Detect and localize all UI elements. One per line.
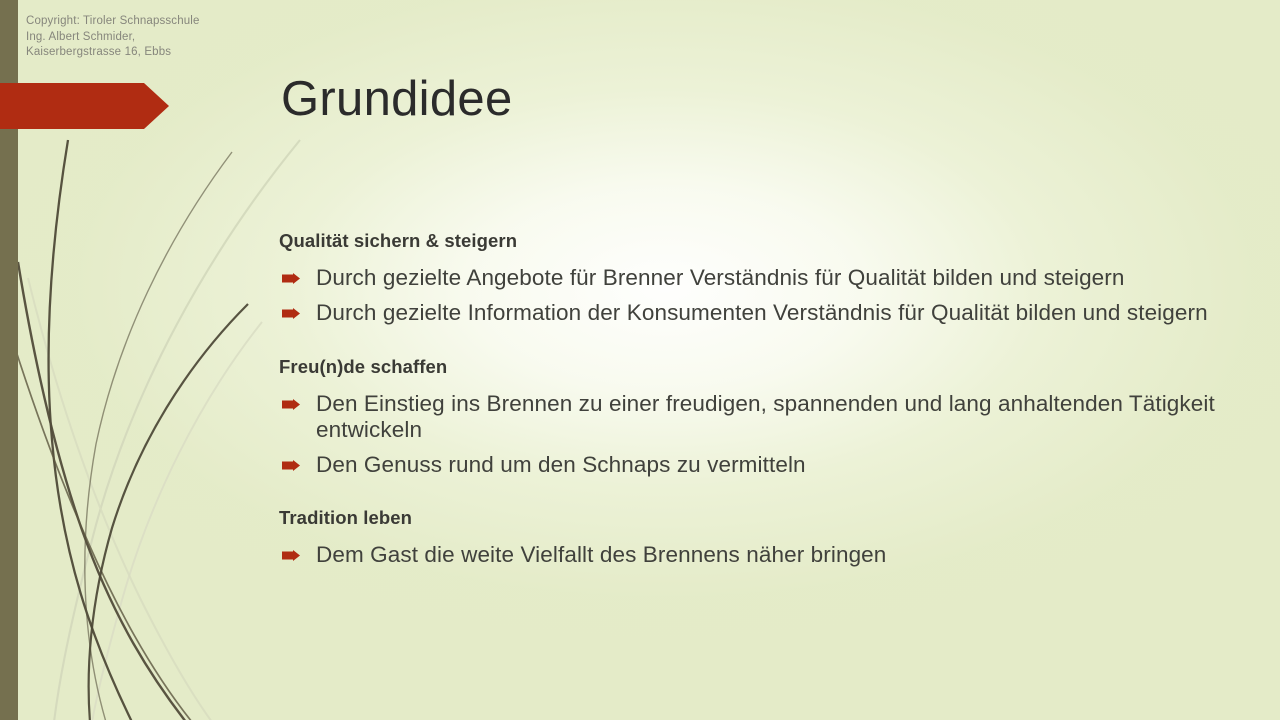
content-group-1: Qualität sichern & steigern Durch geziel… bbox=[279, 226, 1234, 326]
list-item-text: Durch gezielte Angebote für Brenner Vers… bbox=[316, 265, 1125, 290]
bullet-list: Dem Gast die weite Vielfallt des Brennen… bbox=[279, 542, 1234, 568]
group-heading: Tradition leben bbox=[279, 503, 1234, 533]
group-spacer bbox=[279, 326, 1234, 352]
red-flag-arrow-bullet-icon bbox=[282, 308, 300, 319]
slide-body: Qualität sichern & steigern Durch geziel… bbox=[279, 226, 1234, 568]
group-heading: Freu(n)de schaffen bbox=[279, 352, 1234, 382]
list-item: Dem Gast die weite Vielfallt des Brennen… bbox=[279, 542, 1234, 568]
list-item: Den Einstieg ins Brennen zu einer freudi… bbox=[279, 391, 1234, 443]
list-item: Den Genuss rund um den Schnaps zu vermit… bbox=[279, 452, 1234, 478]
red-pentagon-arrow-banner bbox=[0, 83, 169, 129]
content-group-2: Freu(n)de schaffen Den Einstieg ins Bren… bbox=[279, 352, 1234, 478]
red-flag-arrow-bullet-icon bbox=[282, 399, 300, 410]
page-title: Grundidee bbox=[281, 67, 513, 131]
copyright-notice: Copyright: Tiroler Schnapsschule Ing. Al… bbox=[26, 14, 266, 61]
list-item: Durch gezielte Angebote für Brenner Vers… bbox=[279, 265, 1234, 291]
list-item: Durch gezielte Information der Konsument… bbox=[279, 300, 1234, 326]
list-item-text: Den Genuss rund um den Schnaps zu vermit… bbox=[316, 452, 806, 477]
bullet-list: Den Einstieg ins Brennen zu einer freudi… bbox=[279, 391, 1234, 478]
group-spacer bbox=[279, 478, 1234, 503]
list-item-text: Dem Gast die weite Vielfallt des Brennen… bbox=[316, 542, 886, 567]
bullet-list: Durch gezielte Angebote für Brenner Vers… bbox=[279, 265, 1234, 326]
red-flag-arrow-bullet-icon bbox=[282, 460, 300, 471]
content-group-3: Tradition leben Dem Gast die weite Vielf… bbox=[279, 503, 1234, 568]
list-item-text: Durch gezielte Information der Konsument… bbox=[316, 300, 1208, 325]
presentation-slide: Copyright: Tiroler Schnapsschule Ing. Al… bbox=[0, 0, 1280, 720]
red-flag-arrow-bullet-icon bbox=[282, 273, 300, 284]
red-flag-arrow-bullet-icon bbox=[282, 550, 300, 561]
list-item-text: Den Einstieg ins Brennen zu einer freudi… bbox=[316, 391, 1215, 442]
group-heading: Qualität sichern & steigern bbox=[279, 226, 1234, 256]
